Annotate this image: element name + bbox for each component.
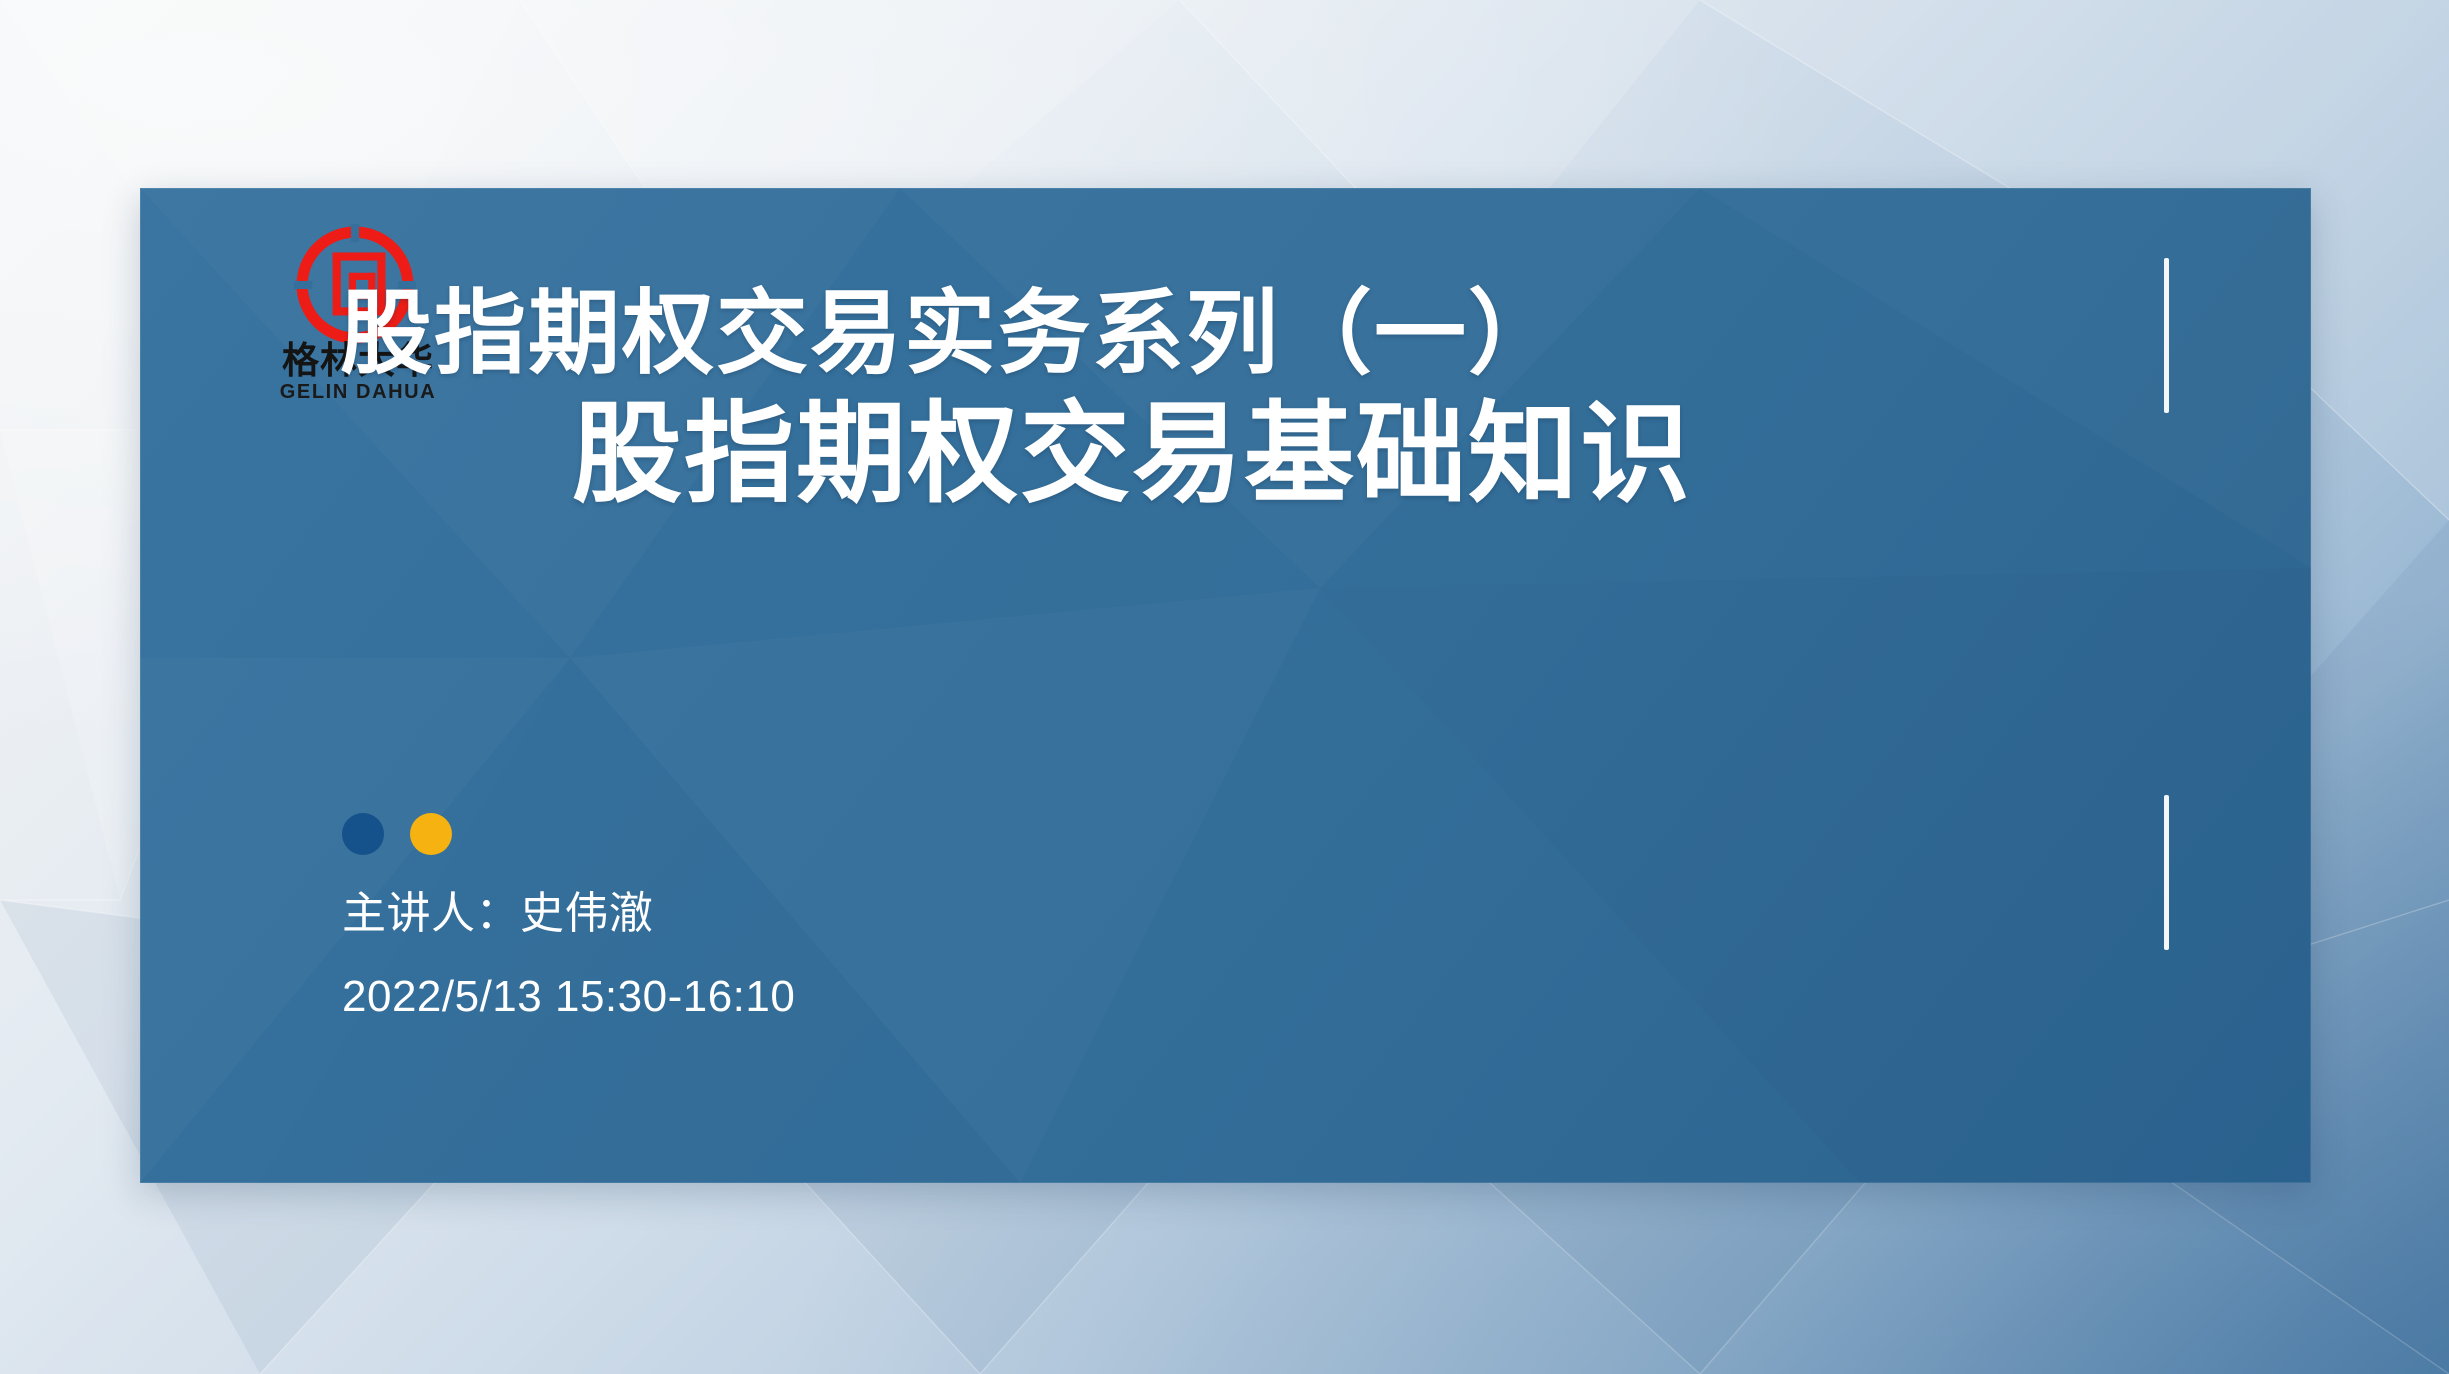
title-line-2: 股指期权交易基础知识 [572,400,1692,510]
vertical-rule-bottom [2164,795,2169,950]
slide-root: 格林大华 GELIN DAHUA 股指期权交易实务系列（一） 股指期权交易基础知… [0,0,2449,1374]
datetime-text: 2022/5/13 15:30-16:10 [342,975,795,1019]
logo-text-en: GELIN DAHUA [258,382,458,402]
title-line-1: 股指期权交易实务系列（一） [340,288,1562,380]
vertical-rule-top [2164,258,2169,413]
decor-dots [342,813,452,855]
dot-gold [410,813,452,855]
title-card: 格林大华 GELIN DAHUA 股指期权交易实务系列（一） 股指期权交易基础知… [140,188,2311,1183]
dot-navy [342,813,384,855]
speaker-text: 主讲人：史伟澈 [342,892,654,936]
